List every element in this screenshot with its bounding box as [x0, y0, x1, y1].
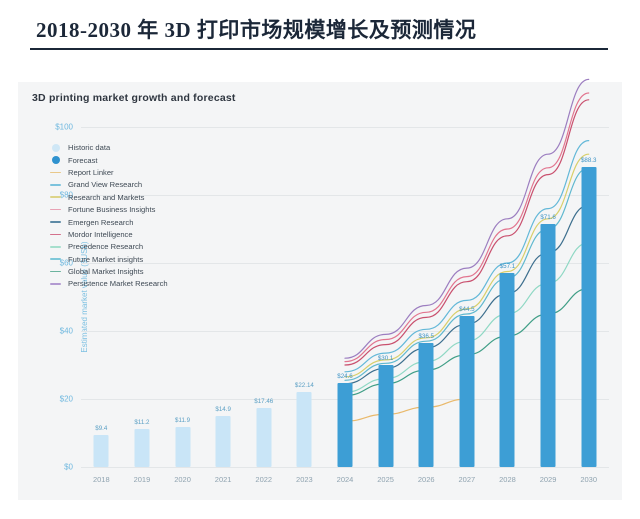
legend-line-icon	[49, 283, 62, 285]
legend-item-label: Future Market insights	[68, 255, 143, 264]
bar[interactable]	[256, 408, 271, 467]
bar-column[interactable]: $14.92021	[203, 127, 243, 467]
legend-line-icon	[49, 209, 62, 211]
bar[interactable]	[581, 167, 596, 467]
bar-value-label: $17.46	[254, 398, 273, 405]
bar-value-label: $22.14	[295, 382, 314, 389]
legend-item[interactable]: Report Linker	[49, 167, 168, 178]
legend-item-label: Grand View Research	[68, 180, 142, 189]
gridline	[81, 467, 609, 468]
chart-legend: Historic dataForecastReport LinkerGrand …	[49, 142, 168, 290]
bar-column[interactable]: $36.52026	[406, 127, 446, 467]
x-axis-tick: 2020	[174, 475, 191, 484]
legend-line-icon	[49, 246, 62, 248]
legend-item-label: Research and Markets	[68, 193, 144, 202]
bar[interactable]	[500, 273, 515, 467]
bar[interactable]	[338, 383, 353, 467]
legend-item[interactable]: Persistence Market Research	[49, 278, 168, 289]
bar-column[interactable]: $71.62029	[528, 127, 568, 467]
bar-column[interactable]: $17.462022	[244, 127, 284, 467]
x-axis-tick: 2029	[540, 475, 557, 484]
bar-value-label: $9.4	[95, 425, 107, 432]
legend-item-label: Forecast	[68, 156, 98, 165]
legend-item[interactable]: Forecast	[49, 154, 168, 165]
legend-line-icon	[49, 271, 62, 273]
bar-column[interactable]: $44.52027	[447, 127, 487, 467]
bar-value-label: $11.2	[134, 419, 149, 426]
bar[interactable]	[459, 316, 474, 467]
legend-item-label: Report Linker	[68, 168, 114, 177]
legend-line-icon	[49, 196, 62, 198]
legend-item-label: Historic data	[68, 143, 110, 152]
bar-value-label: $44.5	[459, 306, 474, 313]
y-axis-tick: $20	[60, 395, 73, 404]
bar[interactable]	[175, 427, 190, 467]
x-axis-tick: 2030	[580, 475, 597, 484]
chart-card: 3D printing market growth and forecast E…	[18, 82, 622, 500]
legend-line-icon	[49, 172, 62, 174]
x-axis-tick: 2023	[296, 475, 313, 484]
bar-column[interactable]: $24.62024	[325, 127, 365, 467]
bar-column[interactable]: $22.142023	[284, 127, 324, 467]
y-axis-tick: $0	[64, 463, 73, 472]
bar-column[interactable]: $57.12028	[487, 127, 527, 467]
legend-item[interactable]: Mordor Intelligence	[49, 229, 168, 240]
page-header: 2018-2030 年 3D 打印市场规模增长及预测情况	[0, 0, 640, 60]
legend-item[interactable]: Future Market insights	[49, 254, 168, 265]
legend-line-icon	[49, 184, 62, 186]
bar-value-label: $57.1	[500, 263, 515, 270]
legend-item-label: Emergen Research	[68, 218, 133, 227]
bar-value-label: $30.1	[378, 355, 393, 362]
page-title: 2018-2030 年 3D 打印市场规模增长及预测情况	[36, 14, 476, 44]
legend-item-label: Precedence Research	[68, 242, 143, 251]
legend-line-icon	[49, 258, 62, 260]
x-axis-tick: 2027	[459, 475, 476, 484]
legend-item-label: Global Market Insights	[68, 267, 144, 276]
bar-value-label: $36.5	[418, 333, 433, 340]
legend-item[interactable]: Precedence Research	[49, 241, 168, 252]
bar[interactable]	[94, 435, 109, 467]
legend-item-label: Mordor Intelligence	[68, 230, 133, 239]
legend-item[interactable]: Historic data	[49, 142, 168, 153]
bar-value-label: $71.6	[540, 214, 555, 221]
x-axis-tick: 2028	[499, 475, 516, 484]
y-axis-tick: $100	[55, 123, 73, 132]
legend-line-icon	[49, 221, 62, 223]
bar[interactable]	[378, 365, 393, 467]
legend-item[interactable]: Research and Markets	[49, 192, 168, 203]
legend-item[interactable]: Fortune Business Insights	[49, 204, 168, 215]
x-axis-tick: 2018	[93, 475, 110, 484]
x-axis-tick: 2026	[418, 475, 435, 484]
bar[interactable]	[216, 416, 231, 467]
bar-column[interactable]: $30.12025	[366, 127, 406, 467]
bar-column[interactable]: $88.32030	[569, 127, 609, 467]
y-axis-tick: $40	[60, 327, 73, 336]
x-axis-tick: 2019	[134, 475, 151, 484]
legend-item[interactable]: Grand View Research	[49, 179, 168, 190]
legend-line-icon	[49, 234, 62, 236]
x-axis-tick: 2022	[255, 475, 272, 484]
legend-item-label: Persistence Market Research	[68, 279, 168, 288]
bar[interactable]	[134, 429, 149, 467]
bar-value-label: $88.3	[581, 157, 596, 164]
x-axis-tick: 2025	[377, 475, 394, 484]
bar-value-label: $14.9	[215, 406, 230, 413]
legend-item-label: Fortune Business Insights	[68, 205, 155, 214]
bar[interactable]	[541, 224, 556, 467]
legend-dot-icon	[49, 144, 62, 152]
bar-value-label: $11.9	[175, 417, 190, 424]
bar-column[interactable]: $11.92020	[163, 127, 203, 467]
page-root: 2018-2030 年 3D 打印市场规模增长及预测情况 3D printing…	[0, 0, 640, 519]
title-underline	[30, 48, 608, 50]
legend-dot-icon	[49, 156, 62, 164]
bar[interactable]	[297, 392, 312, 467]
bar[interactable]	[419, 343, 434, 467]
x-axis-tick: 2021	[215, 475, 232, 484]
legend-item[interactable]: Global Market Insights	[49, 266, 168, 277]
legend-item[interactable]: Emergen Research	[49, 216, 168, 227]
x-axis-tick: 2024	[337, 475, 354, 484]
bar-value-label: $24.6	[337, 373, 352, 380]
